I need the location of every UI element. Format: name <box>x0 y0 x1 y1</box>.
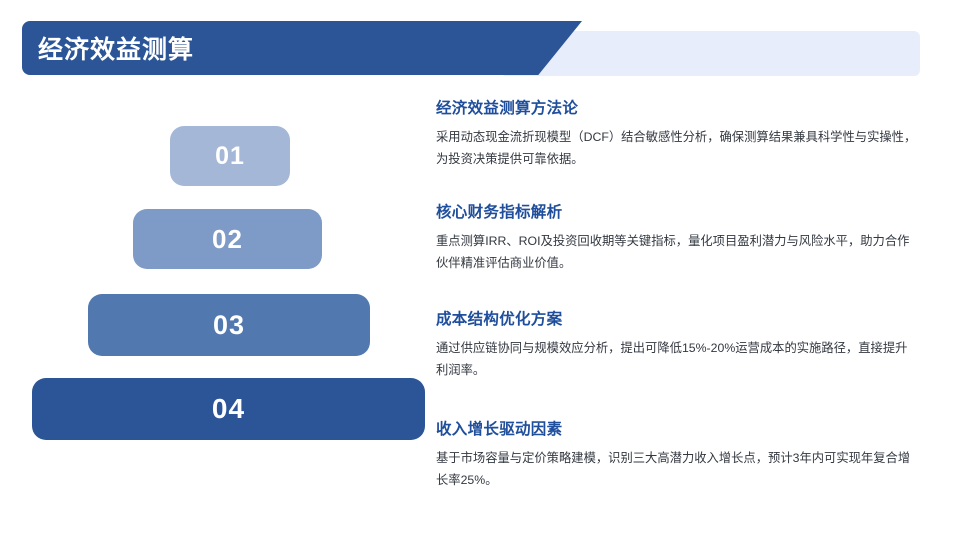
step-number-03: 03 <box>213 310 245 341</box>
content-section-02: 核心财务指标解析 重点测算IRR、ROI及投资回收期等关键指标，量化项目盈利潜力… <box>436 200 926 275</box>
step-number-04: 04 <box>212 393 245 425</box>
section-body-03: 通过供应链协同与规模效应分析，提出可降低15%-20%运营成本的实施路径，直接提… <box>436 338 918 382</box>
step-number-01: 01 <box>215 142 245 171</box>
step-block-02[interactable]: 02 <box>133 209 322 269</box>
step-block-01[interactable]: 01 <box>170 126 290 186</box>
content-section-04: 收入增长驱动因素 基于市场容量与定价策略建模，识别三大高潜力收入增长点，预计3年… <box>436 417 926 492</box>
content-section-01: 经济效益测算方法论 采用动态现金流折现模型（DCF）结合敏感性分析，确保测算结果… <box>436 96 926 171</box>
step-number-02: 02 <box>212 224 243 255</box>
content-sections: 经济效益测算方法论 采用动态现金流折现模型（DCF）结合敏感性分析，确保测算结果… <box>436 0 936 540</box>
section-title-03: 成本结构优化方案 <box>436 307 926 329</box>
section-title-04: 收入增长驱动因素 <box>436 417 926 439</box>
step-block-04[interactable]: 04 <box>32 378 425 440</box>
step-block-03[interactable]: 03 <box>88 294 370 356</box>
section-title-01: 经济效益测算方法论 <box>436 96 926 118</box>
step-pyramid: 01 02 03 04 <box>0 0 440 540</box>
section-body-01: 采用动态现金流折现模型（DCF）结合敏感性分析，确保测算结果兼具科学性与实操性，… <box>436 127 918 171</box>
content-section-03: 成本结构优化方案 通过供应链协同与规模效应分析，提出可降低15%-20%运营成本… <box>436 307 926 382</box>
section-title-02: 核心财务指标解析 <box>436 200 926 222</box>
section-body-02: 重点测算IRR、ROI及投资回收期等关键指标，量化项目盈利潜力与风险水平，助力合… <box>436 231 918 275</box>
section-body-04: 基于市场容量与定价策略建模，识别三大高潜力收入增长点，预计3年内可实现年复合增长… <box>436 448 918 492</box>
